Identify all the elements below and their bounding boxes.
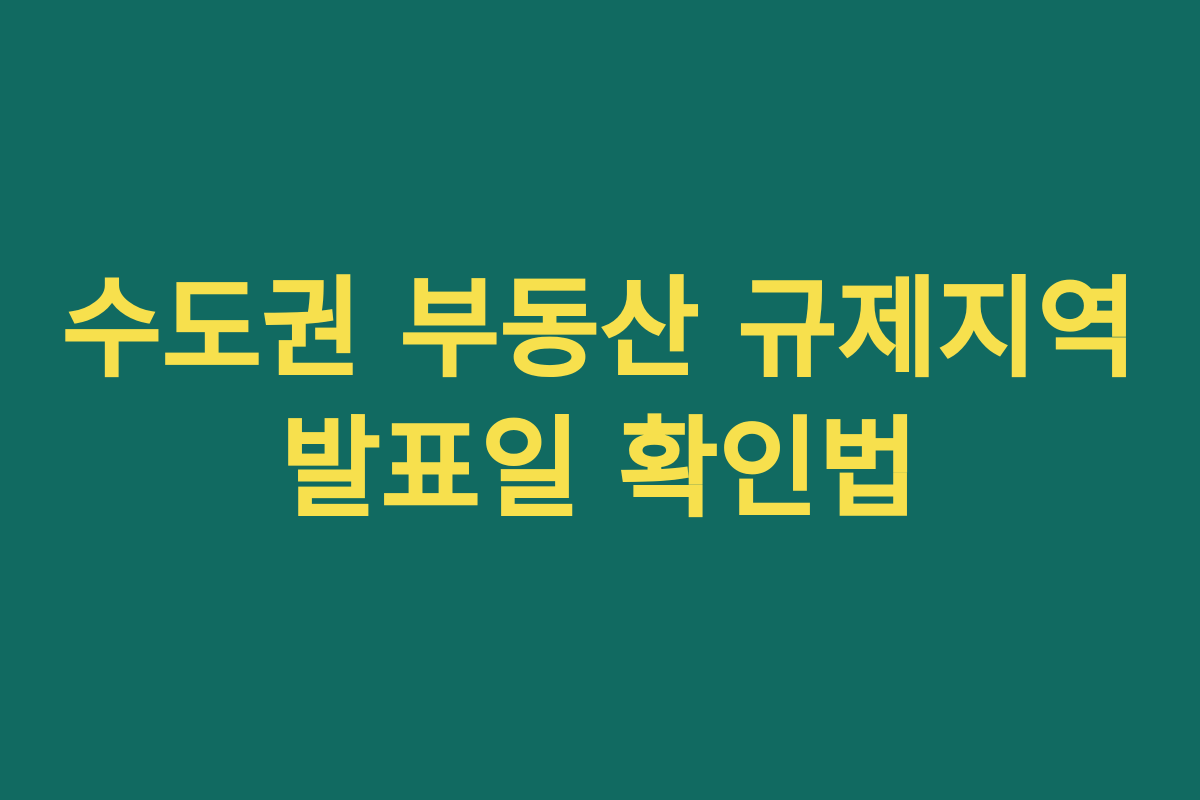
headline: 수도권 부동산 규제지역 발표일 확인법 — [62, 260, 1137, 540]
headline-line-1: 수도권 부동산 규제지역 — [62, 260, 1137, 400]
headline-line-2: 발표일 확인법 — [62, 400, 1137, 540]
title-card: 수도권 부동산 규제지역 발표일 확인법 — [0, 0, 1200, 800]
